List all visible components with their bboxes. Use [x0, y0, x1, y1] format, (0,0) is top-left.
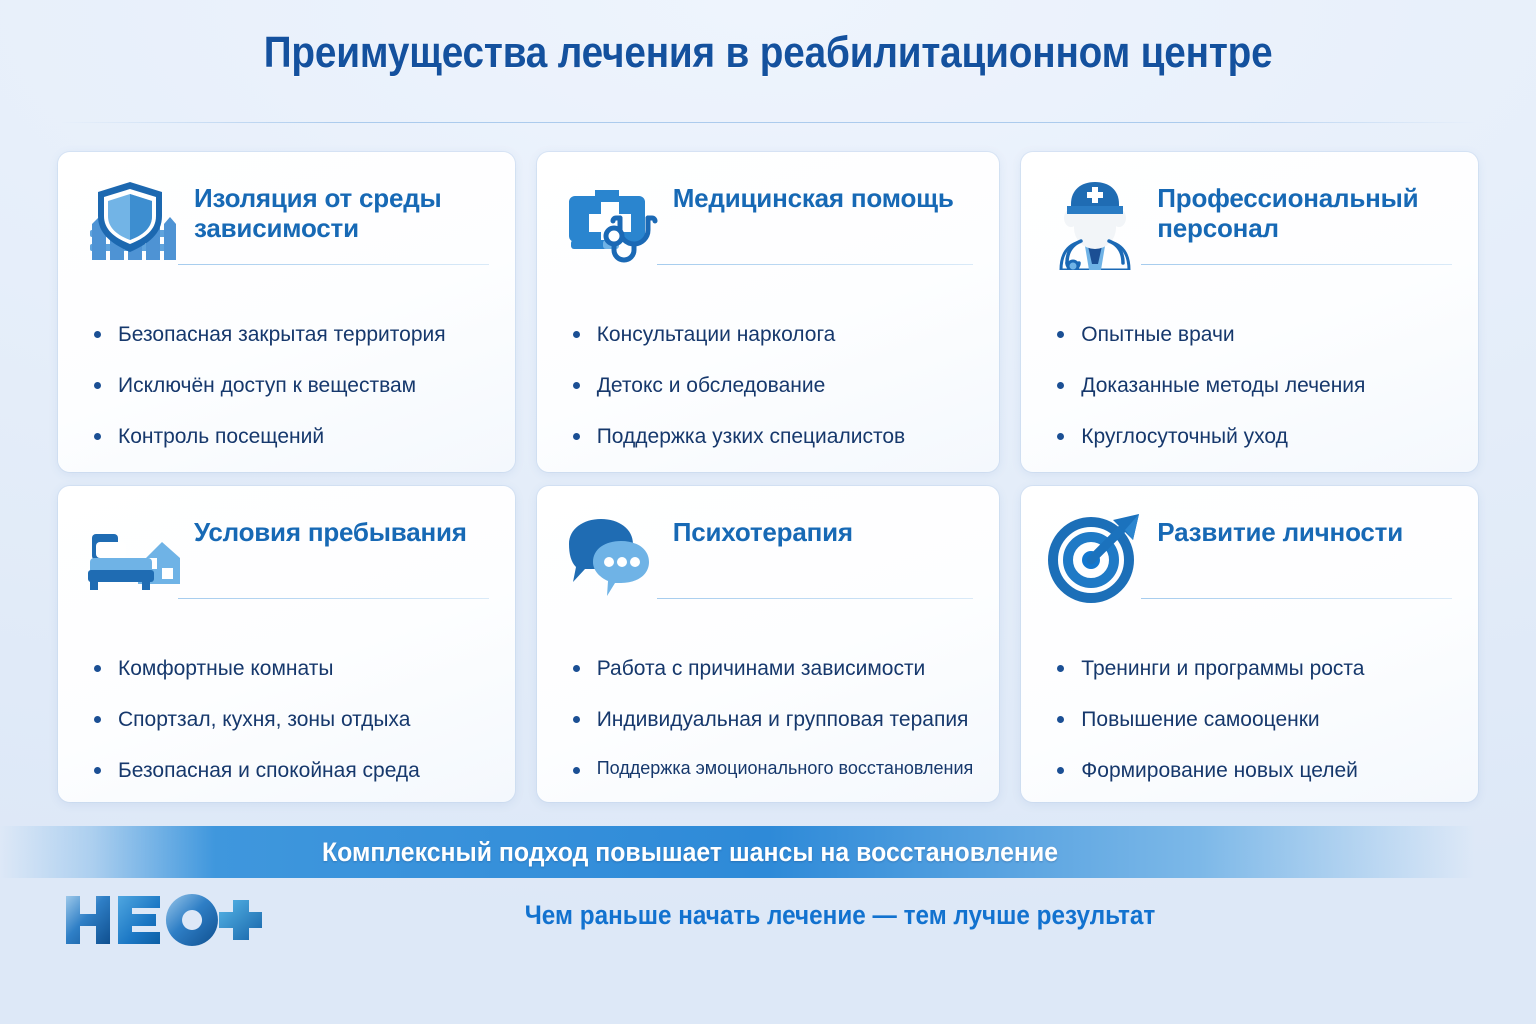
- bullet-dot-icon: [1057, 382, 1064, 389]
- bullet-dot-icon: [1057, 665, 1064, 672]
- list-item: Контроль посещений: [92, 424, 489, 449]
- benefits-grid: Изоляция от среды зависимости Безопасная…: [58, 152, 1478, 802]
- list-item: Индивидуальная и групповая терапия: [571, 707, 974, 732]
- list-item-label: Безопасная закрытая территория: [118, 323, 446, 346]
- card-title-rule: [657, 598, 974, 599]
- bullet-dot-icon: [1057, 767, 1064, 774]
- infographic-root: Преимущества лечения в реабилитационном …: [0, 0, 1536, 1024]
- bullet-dot-icon: [94, 331, 101, 338]
- card-title: Изоляция от среды зависимости: [194, 178, 489, 243]
- card-header: Условия пребывания: [84, 512, 489, 604]
- doctor-icon: [1047, 178, 1143, 270]
- list-item: Спортзал, кухня, зоны отдыха: [92, 707, 489, 732]
- bullet-dot-icon: [573, 767, 580, 774]
- card-bullet-list: Консультации нарколога Детокс и обследов…: [563, 270, 974, 450]
- list-item-label: Формирование новых целей: [1081, 759, 1358, 782]
- list-item-label: Безопасная и спокойная среда: [118, 759, 420, 782]
- bullet-dot-icon: [94, 433, 101, 440]
- list-item-label: Поддержка эмоционального восстановления: [597, 758, 974, 778]
- bullet-dot-icon: [573, 382, 580, 389]
- list-item: Повышение самооценки: [1055, 707, 1452, 732]
- card-title: Развитие личности: [1157, 512, 1403, 548]
- list-item-label: Индивидуальная и групповая терапия: [597, 708, 969, 731]
- card-header: Изоляция от среды зависимости: [84, 178, 489, 270]
- bullet-dot-icon: [1057, 331, 1064, 338]
- list-item: Консультации нарколога: [571, 322, 974, 347]
- list-item: Безопасная и спокойная среда: [92, 758, 489, 783]
- benefit-card-accommodation: Условия пребывания Комфортные комнаты Сп…: [58, 486, 515, 802]
- list-item-label: Тренинги и программы роста: [1081, 657, 1364, 680]
- card-title: Медицинская помощь: [673, 178, 954, 214]
- medical-bag-stethoscope-icon: [563, 178, 659, 270]
- speech-bubbles-icon: [563, 512, 659, 604]
- target-arrow-icon: [1047, 512, 1143, 604]
- bed-house-icon: [84, 512, 180, 604]
- bullet-dot-icon: [573, 331, 580, 338]
- shield-fence-icon: [84, 178, 180, 270]
- card-title-rule: [178, 598, 489, 599]
- title-divider: [60, 122, 1476, 123]
- bullet-dot-icon: [573, 716, 580, 723]
- list-item: Исключён доступ к веществам: [92, 373, 489, 398]
- list-item: Работа с причинами зависимости: [571, 656, 974, 681]
- bullet-dot-icon: [1057, 716, 1064, 723]
- list-item: Формирование новых целей: [1055, 758, 1452, 783]
- benefit-card-personal-growth: Развитие личности Тренинги и программы р…: [1021, 486, 1478, 802]
- card-header: Профессиональный персонал: [1047, 178, 1452, 270]
- list-item: Поддержка узких специалистов: [571, 424, 974, 449]
- list-item: Детокс и обследование: [571, 373, 974, 398]
- list-item-label: Повышение самооценки: [1081, 708, 1319, 731]
- benefit-card-professional-staff: Профессиональный персонал Опытные врачи …: [1021, 152, 1478, 472]
- bullet-dot-icon: [94, 767, 101, 774]
- card-bullet-list: Работа с причинами зависимости Индивидуа…: [563, 604, 974, 780]
- card-title: Психотерапия: [673, 512, 853, 548]
- list-item-label: Консультации нарколога: [597, 323, 836, 346]
- list-item: Поддержка эмоционального восстановления: [571, 758, 974, 780]
- card-bullet-list: Комфортные комнаты Спортзал, кухня, зоны…: [84, 604, 489, 784]
- list-item-label: Контроль посещений: [118, 425, 324, 448]
- list-item-label: Детокс и обследование: [597, 374, 826, 397]
- card-title: Условия пребывания: [194, 512, 467, 548]
- list-item-label: Поддержка узких специалистов: [597, 425, 905, 448]
- list-item-label: Круглосуточный уход: [1081, 425, 1288, 448]
- card-header: Развитие личности: [1047, 512, 1452, 604]
- page-title-container: Преимущества лечения в реабилитационном …: [0, 28, 1536, 78]
- bullet-dot-icon: [94, 665, 101, 672]
- list-item-label: Опытные врачи: [1081, 323, 1234, 346]
- card-title: Профессиональный персонал: [1157, 178, 1452, 243]
- list-item: Тренинги и программы роста: [1055, 656, 1452, 681]
- list-item-label: Спортзал, кухня, зоны отдыха: [118, 708, 410, 731]
- bullet-dot-icon: [94, 716, 101, 723]
- list-item-label: Работа с причинами зависимости: [597, 657, 926, 680]
- bullet-dot-icon: [94, 382, 101, 389]
- list-item: Безопасная закрытая территория: [92, 322, 489, 347]
- benefit-card-medical-help: Медицинская помощь Консультации нарколог…: [537, 152, 1000, 472]
- list-item: Комфортные комнаты: [92, 656, 489, 681]
- bullet-dot-icon: [1057, 433, 1064, 440]
- list-item: Круглосуточный уход: [1055, 424, 1452, 449]
- list-item: Доказанные методы лечения: [1055, 373, 1452, 398]
- bullet-dot-icon: [573, 433, 580, 440]
- footer-tagline: Чем раньше начать лечение — тем лучше ре…: [354, 900, 1326, 931]
- list-item: Опытные врачи: [1055, 322, 1452, 347]
- page-title: Преимущества лечения в реабилитационном …: [264, 28, 1273, 78]
- list-item-label: Доказанные методы лечения: [1081, 374, 1365, 397]
- list-item-label: Комфортные комнаты: [118, 657, 333, 680]
- benefit-card-psychotherapy: Психотерапия Работа с причинами зависимо…: [537, 486, 1000, 802]
- card-title-rule: [1141, 264, 1452, 265]
- card-header: Медицинская помощь: [563, 178, 974, 270]
- list-item-label: Исключён доступ к веществам: [118, 374, 416, 397]
- brand-logo: [62, 890, 262, 950]
- footer: Чем раньше начать лечение — тем лучше ре…: [0, 878, 1536, 964]
- card-header: Психотерапия: [563, 512, 974, 604]
- bullet-dot-icon: [573, 665, 580, 672]
- card-title-rule: [1141, 598, 1452, 599]
- summary-banner-text: Комплексный подход повышает шансы на вос…: [55, 837, 1325, 868]
- summary-banner: Комплексный подход повышает шансы на вос…: [0, 826, 1536, 878]
- card-title-rule: [657, 264, 974, 265]
- card-bullet-list: Безопасная закрытая территория Исключён …: [84, 270, 489, 450]
- benefit-card-isolation: Изоляция от среды зависимости Безопасная…: [58, 152, 515, 472]
- card-bullet-list: Тренинги и программы роста Повышение сам…: [1047, 604, 1452, 784]
- card-title-rule: [178, 264, 489, 265]
- card-bullet-list: Опытные врачи Доказанные методы лечения …: [1047, 270, 1452, 450]
